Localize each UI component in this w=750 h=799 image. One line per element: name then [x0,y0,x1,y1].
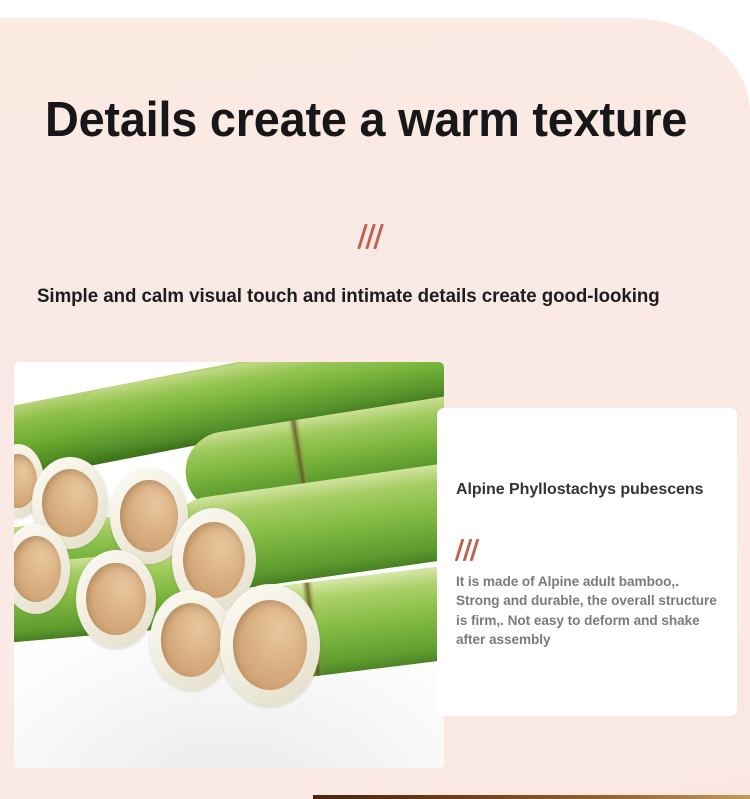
page-title: Details create a warm texture [45,96,687,145]
slash-mark [373,224,383,249]
info-card-body: It is made of Alpine adult bamboo,. Stro… [456,572,722,649]
page-subtitle: Simple and calm visual touch and intimat… [37,286,660,309]
photo-backdrop [14,362,444,768]
product-info-card: Alpine Phyllostachys pubescens It is mad… [437,408,737,716]
next-section-strip [313,795,750,799]
bamboo-cut-end [76,550,156,648]
info-card-title: Alpine Phyllostachys pubescens [456,479,706,500]
product-detail-page: Details create a warm texture Simple and… [0,0,750,799]
bamboo-photo [14,362,444,768]
slash-mark [470,539,479,561]
triple-slash-divider-icon [458,539,481,561]
bamboo-cut-end [220,584,320,706]
triple-slash-divider-icon [361,224,385,249]
